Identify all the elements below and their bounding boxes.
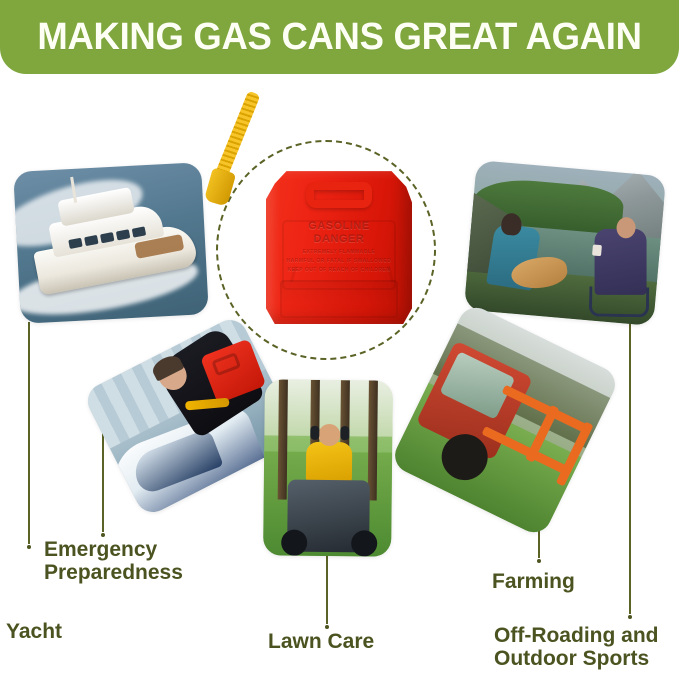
emboss-warning-2: HARMFUL OR FATAL IF SWALLOWED	[282, 258, 396, 264]
gas-can-body: GASOLINE DANGER EXTREMELY FLAMMABLE HARM…	[266, 168, 412, 324]
emboss-danger: DANGER	[282, 233, 396, 246]
gas-can-embossed-text: GASOLINE DANGER EXTREMELY FLAMMABLE HARM…	[282, 220, 396, 273]
label-yacht: Yacht	[6, 620, 62, 643]
connector-line-yacht	[28, 322, 30, 544]
mower-wheel	[281, 530, 307, 556]
person-head	[501, 212, 523, 236]
ear-protection	[340, 426, 349, 440]
label-lawn-care: Lawn Care	[268, 630, 374, 653]
person-head	[318, 424, 340, 446]
emboss-gasoline: GASOLINE	[282, 220, 396, 233]
label-offroad-outdoor-sports: Off-Roading and Outdoor Sports	[494, 624, 658, 670]
person-seated	[595, 229, 647, 295]
tree-trunk	[368, 380, 378, 500]
photo-yacht	[13, 162, 209, 324]
connector-line-offroad	[629, 322, 631, 614]
gas-can-handle	[306, 182, 372, 208]
photo-offroad-camping	[464, 160, 666, 326]
tree-trunk	[278, 379, 288, 499]
product-gas-can: GASOLINE DANGER EXTREMELY FLAMMABLE HARM…	[266, 168, 412, 324]
header-banner: MAKING GAS CANS GREAT AGAIN	[0, 0, 679, 74]
camping-chair	[589, 286, 650, 317]
person-on-mower	[306, 442, 352, 482]
connector-line-lawn-care	[326, 556, 328, 624]
photo-lawn-care	[263, 379, 393, 556]
drink-cup	[592, 244, 602, 256]
emboss-warning-1: EXTREMELY FLAMMABLE	[282, 249, 396, 255]
page-title: MAKING GAS CANS GREAT AGAIN	[14, 0, 666, 74]
label-farming: Farming	[492, 570, 575, 593]
photo-farming	[389, 302, 621, 538]
label-emergency-preparedness: Emergency Preparedness	[44, 538, 183, 584]
gas-can-spout	[208, 86, 230, 204]
mower-wheel	[351, 530, 377, 556]
ear-protection	[310, 426, 319, 440]
gas-can-base-ribs	[280, 280, 398, 318]
